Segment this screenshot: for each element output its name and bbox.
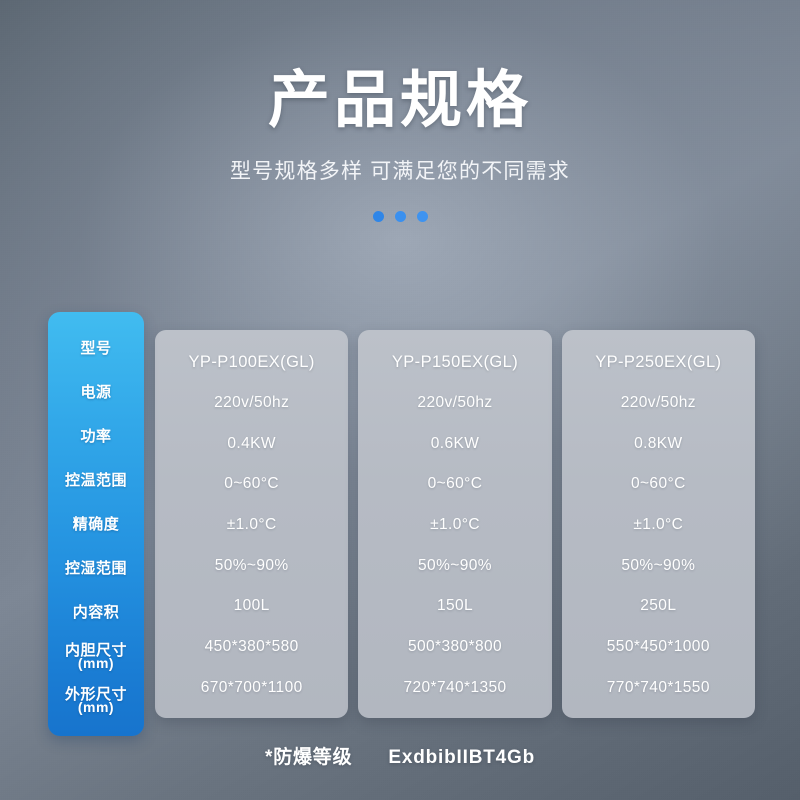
spec-cell-accuracy: ±1.0°C: [562, 505, 755, 546]
spec-cell-power: 0.4KW: [155, 423, 348, 464]
spec-cell-model: YP-P250EX(GL): [562, 342, 755, 383]
spec-cell-accuracy: ±1.0°C: [155, 505, 348, 546]
spec-cell-temp_range: 0~60°C: [358, 464, 551, 505]
spec-cell-power: 0.6KW: [358, 423, 551, 464]
spec-row-label-7: 内胆尺寸(mm): [48, 634, 144, 678]
product-spec-page: 产品规格 型号规格多样 可满足您的不同需求 型号电源功率控温范围精确度控湿范围内…: [0, 0, 800, 800]
spec-row-label-2: 功率: [48, 414, 144, 458]
spec-row-label-column: 型号电源功率控温范围精确度控湿范围内容积内胆尺寸(mm)外形尺寸(mm): [48, 312, 144, 736]
spec-row-label-text: 控温范围: [65, 473, 127, 488]
spec-cell-power: 0.8KW: [562, 423, 755, 464]
spec-cell-outer_size: 670*700*1100: [155, 667, 348, 708]
footnote-label: *防爆等级: [265, 742, 352, 769]
spec-cell-outer_size: 770*740*1550: [562, 667, 755, 708]
spec-cell-accuracy: ±1.0°C: [358, 505, 551, 546]
spec-cell-inner_size: 550*450*1000: [562, 627, 755, 668]
spec-column-1[interactable]: YP-P150EX(GL)220v/50hz0.6KW0~60°C±1.0°C5…: [358, 330, 551, 718]
spec-data-columns: YP-P100EX(GL)220v/50hz0.4KW0~60°C±1.0°C5…: [155, 330, 755, 718]
spec-cell-volume: 150L: [358, 586, 551, 627]
spec-row-label-text: 精确度: [73, 517, 120, 532]
spec-row-label-text: 控湿范围: [65, 561, 127, 576]
spec-row-label-text: 型号: [80, 341, 111, 356]
spec-row-label-text: 内容积: [73, 605, 120, 620]
spec-row-label-0: 型号: [48, 326, 144, 370]
spec-cell-power_supply: 220v/50hz: [358, 383, 551, 424]
spec-cell-volume: 100L: [155, 586, 348, 627]
footnote: *防爆等级 ExdbibIIBT4Gb: [0, 742, 800, 769]
spec-table: 型号电源功率控温范围精确度控湿范围内容积内胆尺寸(mm)外形尺寸(mm) YP-…: [0, 0, 800, 800]
spec-cell-inner_size: 450*380*580: [155, 627, 348, 668]
spec-row-label-5: 控湿范围: [48, 546, 144, 590]
spec-cell-humidity_range: 50%~90%: [155, 545, 348, 586]
spec-cell-inner_size: 500*380*800: [358, 627, 551, 668]
spec-row-label-unit: (mm): [78, 700, 114, 714]
spec-cell-outer_size: 720*740*1350: [358, 667, 551, 708]
spec-row-label-4: 精确度: [48, 502, 144, 546]
spec-row-label-text: 电源: [80, 385, 111, 400]
spec-cell-humidity_range: 50%~90%: [358, 545, 551, 586]
spec-cell-volume: 250L: [562, 586, 755, 627]
spec-cell-power_supply: 220v/50hz: [155, 383, 348, 424]
spec-cell-model: YP-P100EX(GL): [155, 342, 348, 383]
spec-row-label-8: 外形尺寸(mm): [48, 678, 144, 722]
spec-cell-temp_range: 0~60°C: [155, 464, 348, 505]
spec-column-0[interactable]: YP-P100EX(GL)220v/50hz0.4KW0~60°C±1.0°C5…: [155, 330, 348, 718]
spec-column-2[interactable]: YP-P250EX(GL)220v/50hz0.8KW0~60°C±1.0°C5…: [562, 330, 755, 718]
spec-row-label-unit: (mm): [78, 656, 114, 670]
spec-row-label-1: 电源: [48, 370, 144, 414]
footnote-value: ExdbibIIBT4Gb: [388, 747, 535, 769]
spec-row-label-text: 功率: [80, 429, 111, 444]
spec-row-label-6: 内容积: [48, 590, 144, 634]
spec-cell-humidity_range: 50%~90%: [562, 545, 755, 586]
spec-cell-power_supply: 220v/50hz: [562, 383, 755, 424]
spec-cell-temp_range: 0~60°C: [562, 464, 755, 505]
spec-row-label-3: 控温范围: [48, 458, 144, 502]
spec-cell-model: YP-P150EX(GL): [358, 342, 551, 383]
